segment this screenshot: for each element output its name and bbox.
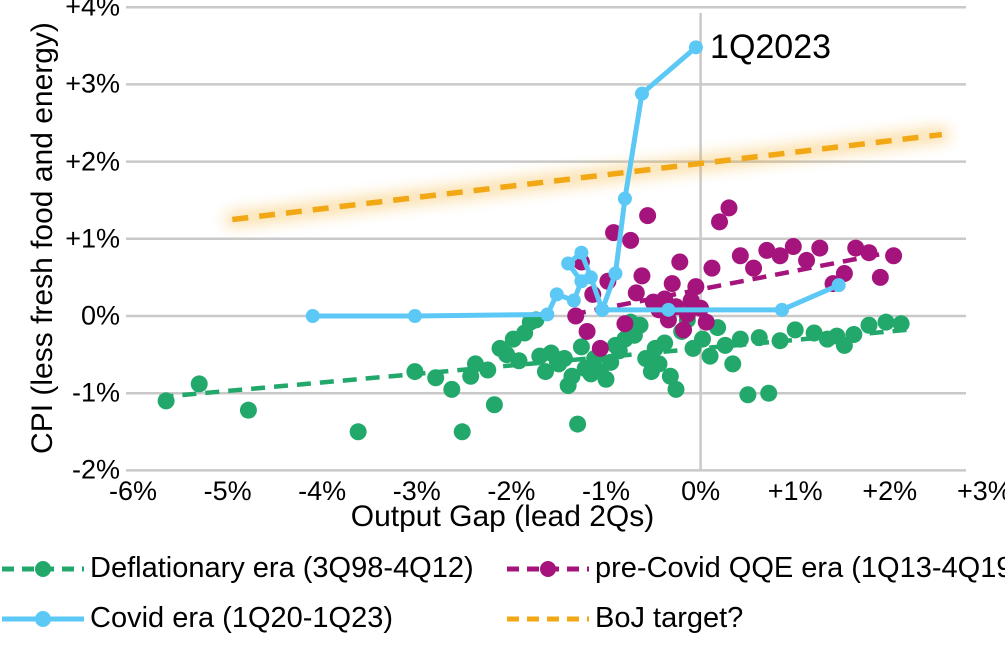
legend-label: BoJ target? (595, 602, 743, 635)
deflationary-points (158, 311, 910, 440)
annotation-1q2023: 1Q2023 (710, 28, 831, 67)
deflationary-trendline (159, 330, 906, 397)
chart-root: +4%+3%+2%+1%0%-1%-2% -6%-5%-4%-3%-2%-1%0… (0, 0, 1005, 650)
legend-key-icon (505, 556, 591, 582)
x-axis-title: Output Gap (lead 2Qs) (0, 500, 1005, 534)
y-tick-1: +1% (0, 223, 126, 254)
chart-canvas (0, 0, 1005, 500)
chart-legend: Deflationary era (3Q98-4Q12)pre-Covid QQ… (0, 552, 1005, 650)
y-axis-tick-labels: +4%+3%+2%+1%0%-1%-2% (0, 0, 126, 500)
series-boj-target (232, 135, 942, 220)
y-tick-0: 0% (0, 301, 126, 332)
legend-item-3[interactable]: BoJ target? (505, 602, 743, 635)
legend-item-1[interactable]: pre-Covid QQE era (1Q13-4Q19) (505, 552, 1005, 585)
y-axis-title: CPI (less fresh food and energy) (27, 3, 59, 473)
plot-area (0, 0, 1005, 500)
y-tick--1: -1% (0, 378, 126, 409)
legend-key-icon (0, 556, 86, 582)
legend-key-icon (0, 606, 86, 632)
legend-item-0[interactable]: Deflationary era (3Q98-4Q12) (0, 552, 474, 585)
legend-key-icon (505, 606, 591, 632)
y-tick-2: +2% (0, 146, 126, 177)
gridlines (126, 7, 966, 470)
y-tick-4: +4% (0, 0, 126, 23)
y-tick-3: +3% (0, 69, 126, 100)
legend-label: pre-Covid QQE era (1Q13-4Q19) (595, 552, 1005, 585)
legend-item-2[interactable]: Covid era (1Q20-1Q23) (0, 602, 393, 635)
legend-label: Covid era (1Q20-1Q23) (90, 602, 393, 635)
legend-label: Deflationary era (3Q98-4Q12) (90, 552, 474, 585)
